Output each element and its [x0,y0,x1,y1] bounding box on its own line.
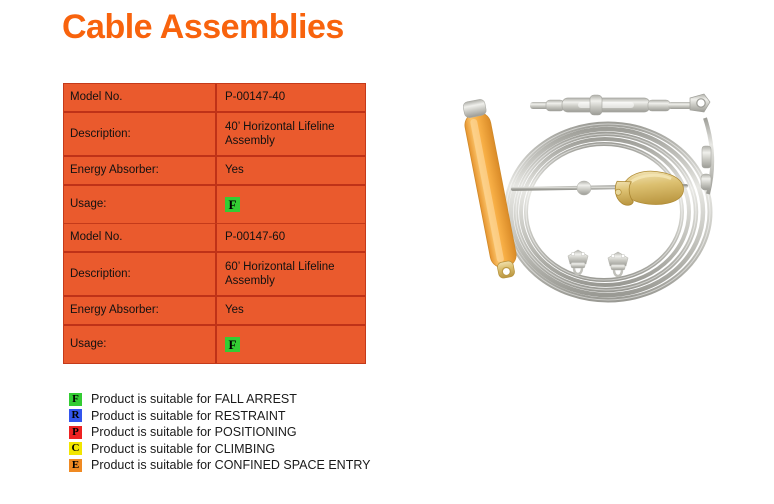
table-row: Usage: F [64,186,365,223]
legend-badge-fall-arrest: F [69,393,82,406]
spec-value-line2: Assembly [225,274,365,289]
table-row: Description: 60’ Horizontal Lifeline Ass… [64,253,365,297]
spec-value: 60’ Horizontal Lifeline Assembly [217,253,365,295]
spec-value: 40’ Horizontal Lifeline Assembly [217,113,365,155]
spec-value: P-00147-60 [217,224,365,251]
table-row: Model No. P-00147-40 [64,84,365,113]
spec-label: Description: [64,113,217,155]
spec-value-line2: Assembly [225,134,365,149]
list-item: C Product is suitable for CLIMBING [69,441,370,458]
legend-badge-restraint: R [69,409,82,422]
legend-badge-climbing: C [69,442,82,455]
list-item: P Product is suitable for POSITIONING [69,424,370,441]
table-row: Energy Absorber: Yes [64,157,365,186]
usage-badge-fall-arrest: F [225,197,240,212]
legend-label: Product is suitable for CONFINED SPACE E… [91,458,370,472]
list-item: F Product is suitable for FALL ARREST [69,391,370,408]
spec-table-p-00147-40: Model No. P-00147-40 Description: 40’ Ho… [63,83,366,224]
usage-value: F [217,186,365,223]
spec-value: Yes [217,157,365,184]
legend-badge-positioning: P [69,426,82,439]
spec-label: Usage: [64,186,217,223]
spec-value: P-00147-40 [217,84,365,111]
legend-label: Product is suitable for POSITIONING [91,425,297,439]
legend-label: Product is suitable for FALL ARREST [91,392,297,406]
product-photo-lifeline-assembly [418,62,766,330]
spec-value-line1: 40’ Horizontal Lifeline [225,120,365,135]
table-row: Model No. P-00147-60 [64,224,365,253]
usage-legend: F Product is suitable for FALL ARREST R … [69,391,370,474]
spec-label: Description: [64,253,217,295]
usage-badge-fall-arrest: F [225,337,240,352]
spec-value: Yes [217,297,365,324]
usage-value: F [217,326,365,363]
spec-label: Energy Absorber: [64,157,217,184]
legend-badge-confined-space-entry: E [69,459,82,472]
list-item: E Product is suitable for CONFINED SPACE… [69,457,370,474]
spec-table-p-00147-60: Model No. P-00147-60 Description: 60’ Ho… [63,223,366,364]
table-row: Description: 40’ Horizontal Lifeline Ass… [64,113,365,157]
list-item: R Product is suitable for RESTRAINT [69,408,370,425]
table-row: Usage: F [64,326,365,363]
table-row: Energy Absorber: Yes [64,297,365,326]
legend-label: Product is suitable for RESTRAINT [91,409,286,423]
page-title: Cable Assemblies [62,8,344,47]
spec-label: Usage: [64,326,217,363]
spec-label: Model No. [64,224,217,251]
legend-label: Product is suitable for CLIMBING [91,442,275,456]
spec-label: Energy Absorber: [64,297,217,324]
spec-label: Model No. [64,84,217,111]
spec-value-line1: 60’ Horizontal Lifeline [225,260,365,275]
